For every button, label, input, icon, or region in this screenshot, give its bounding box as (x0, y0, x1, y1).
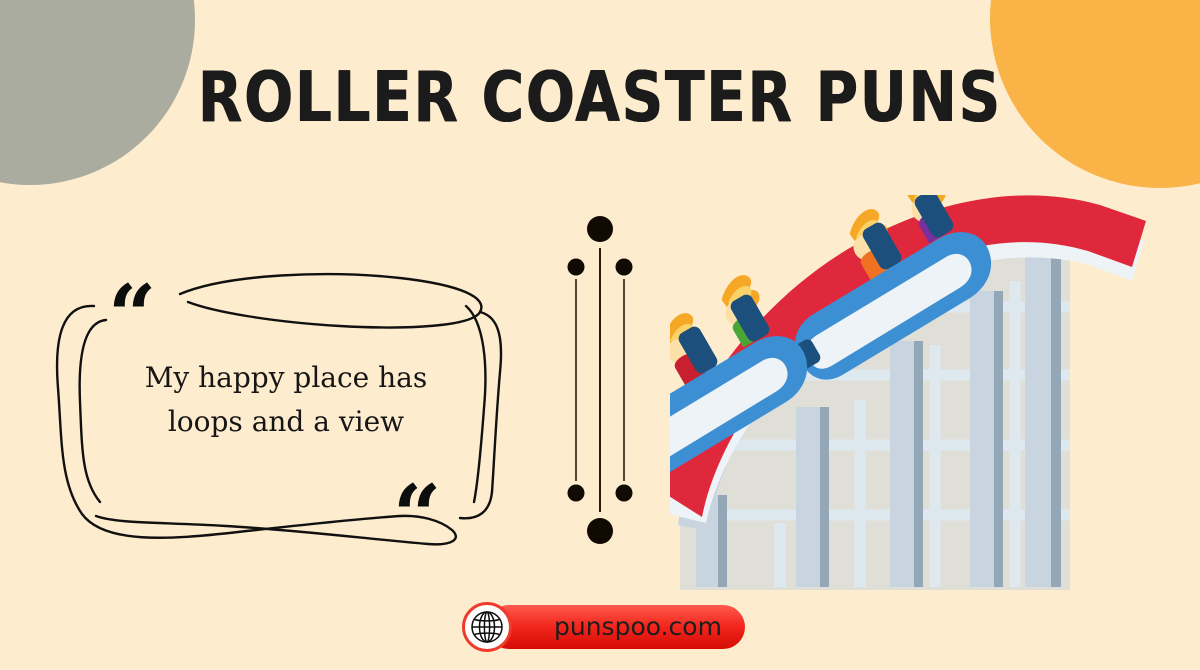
divider-dot-left-top (568, 259, 585, 276)
quote-text: My happy place has loops and a view (106, 356, 466, 443)
poster-canvas: ROLLER COASTER PUNS “ “ My happy place h… (0, 0, 1200, 670)
divider-dot-left-bottom (568, 485, 585, 502)
quote-mark-close: “ (393, 474, 441, 558)
divider-dot-top-large (587, 216, 613, 242)
globe-icon-glyph (469, 609, 505, 645)
quote-line-1: My happy place has (106, 356, 466, 400)
quote-card: “ “ My happy place has loops and a view (48, 268, 518, 548)
badge-domain-text: punspoo.com (554, 605, 754, 649)
globe-icon (462, 602, 512, 652)
quote-line-2: loops and a view (106, 400, 466, 444)
dotted-line-divider (565, 215, 635, 545)
quote-mark-open: “ (108, 274, 156, 358)
divider-dot-right-bottom (616, 485, 633, 502)
divider-dot-right-top (616, 259, 633, 276)
page-title: ROLLER COASTER PUNS (42, 56, 1158, 138)
roller-coaster-illustration (670, 195, 1200, 605)
divider-dot-bottom-large (587, 518, 613, 544)
